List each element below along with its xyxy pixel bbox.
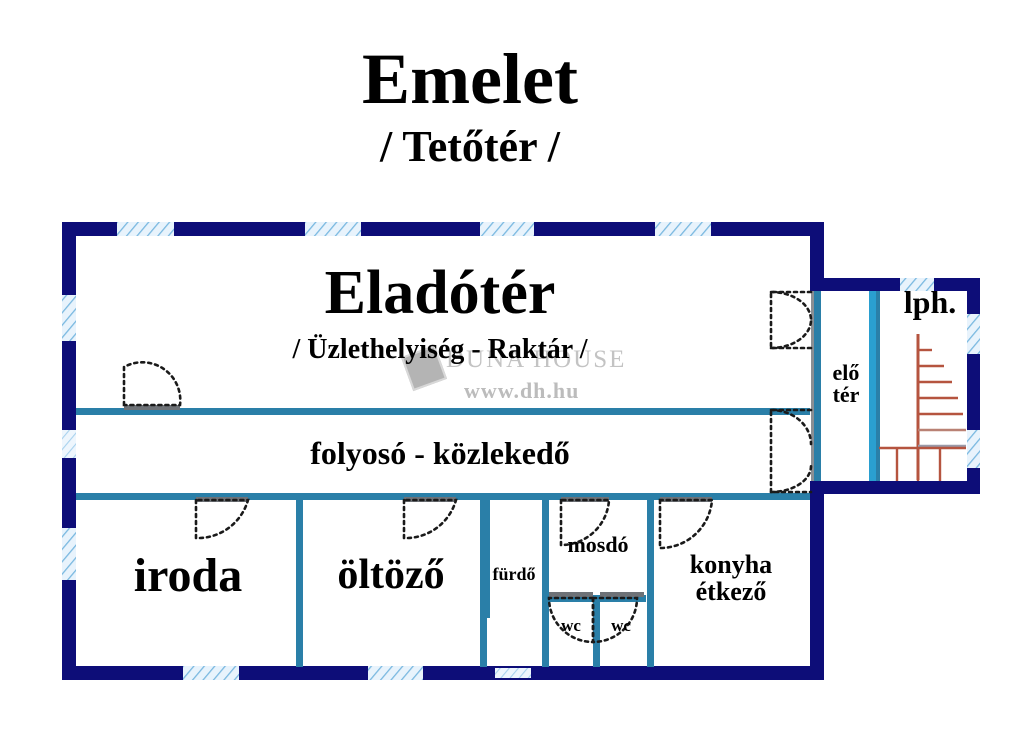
room-label-folyoso: folyosó - közlekedő: [130, 437, 750, 470]
room-label-iroda: iroda: [78, 552, 298, 601]
room-label-oltozo: öltöző: [300, 554, 482, 597]
room-label-eloter-line2: tér: [820, 384, 872, 406]
room-label-mosdo: mosdó: [546, 534, 650, 556]
room-label-lph: lph.: [880, 286, 980, 319]
room-label-konyha-etkezo: konyha étkező: [652, 552, 810, 605]
room-sublabel-eladoter: / Üzlethelyiség - Raktár /: [130, 336, 750, 365]
room-label-eloter: elő tér: [820, 362, 872, 407]
room-label-wc-1: wc: [547, 617, 595, 634]
room-label-furdo: fürdő: [484, 565, 544, 583]
room-label-konyha-line1: konyha: [652, 552, 810, 579]
room-label-eladoter: Eladótér: [130, 262, 750, 325]
room-label-konyha-line2: étkező: [652, 579, 810, 606]
floorplan-screenshot: Emelet / Tetőtér /: [0, 0, 1024, 732]
room-label-wc-2: wc: [597, 617, 645, 634]
windows-left-wall: [62, 295, 76, 580]
room-label-eloter-line1: elő: [820, 362, 872, 384]
